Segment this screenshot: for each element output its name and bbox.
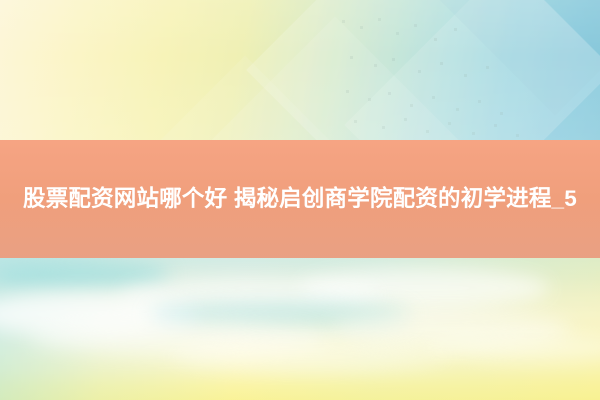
cover-image: 股票配资网站哪个好 揭秘启创商学院配资的初学进程_5 [0, 0, 600, 400]
lower-background [0, 258, 600, 400]
title-banner: 股票配资网站哪个好 揭秘启创商学院配资的初学进程_5 [0, 140, 600, 258]
upper-background [0, 0, 600, 140]
upper-sheen-layer [0, 0, 600, 140]
teal-haze-icon [150, 302, 410, 328]
page-title: 股票配资网站哪个好 揭秘启创商学院配资的初学进程_5 [0, 183, 600, 215]
